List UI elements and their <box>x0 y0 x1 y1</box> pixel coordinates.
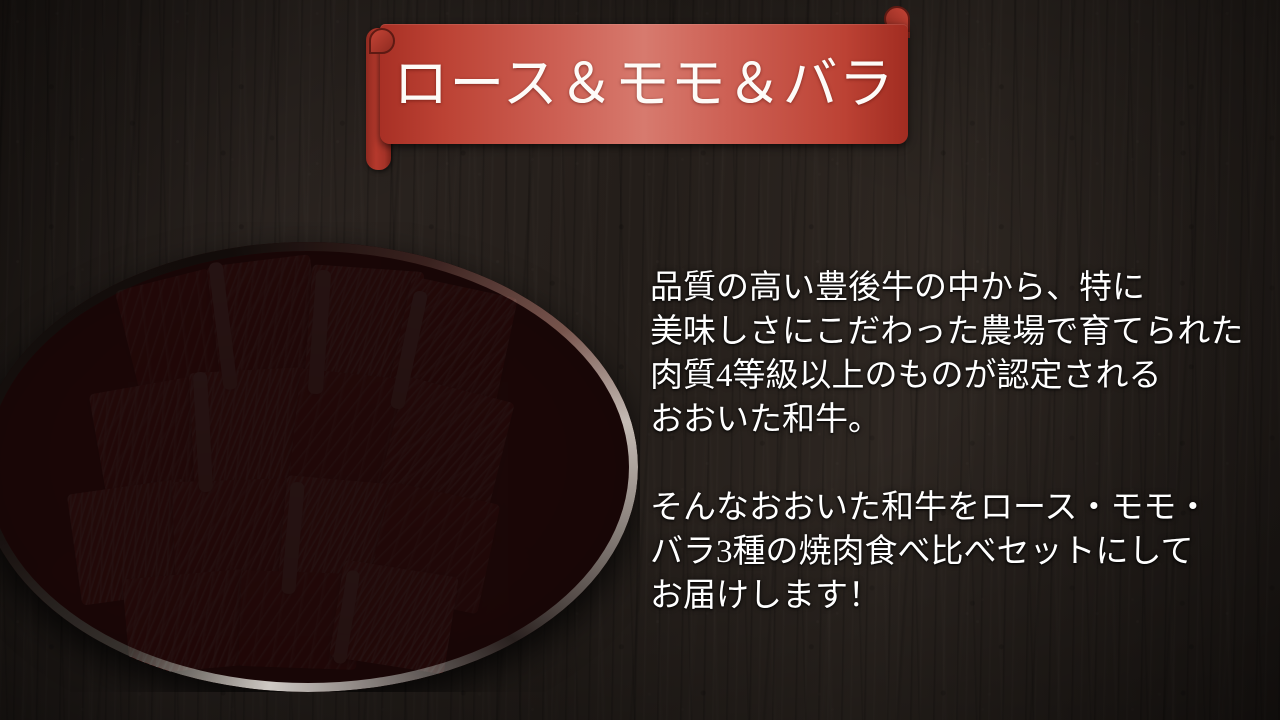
paragraph-1-line-2: 美味しさにこだわった農場で育てられた <box>650 310 1265 354</box>
slide-canvas: ロース＆モモ＆バラ 品質の高い豊後牛の中から、特に 美味しさにこだわった農場で育… <box>0 0 1280 720</box>
paragraph-1-line-3: 肉質4等級以上のものが認定される <box>650 354 1265 398</box>
banner-panel: ロース＆モモ＆バラ <box>380 24 908 144</box>
page-title: ロース＆モモ＆バラ <box>380 57 908 112</box>
scroll-curl-left-icon <box>369 28 395 54</box>
paragraph-1-line-4: おおいた和牛。 <box>650 398 1265 442</box>
paragraph-2-line-2: バラ3種の焼肉食べ比べセットにして <box>650 530 1265 574</box>
description-text: 品質の高い豊後牛の中から、特に 美味しさにこだわった農場で育てられた 肉質4等級… <box>650 266 1265 618</box>
paragraph-1-line-1: 品質の高い豊後牛の中から、特に <box>650 266 1265 310</box>
paragraph-2-line-1: そんなおおいた和牛をロース・モモ・ <box>650 486 1265 530</box>
black-lacquer-plate <box>0 242 638 692</box>
title-banner: ロース＆モモ＆バラ <box>366 6 918 172</box>
paragraph-spacer <box>650 442 1265 486</box>
plate-rim-highlight <box>0 242 638 692</box>
product-photo <box>0 222 640 692</box>
paragraph-2-line-3: お届けします！ <box>650 574 1265 618</box>
